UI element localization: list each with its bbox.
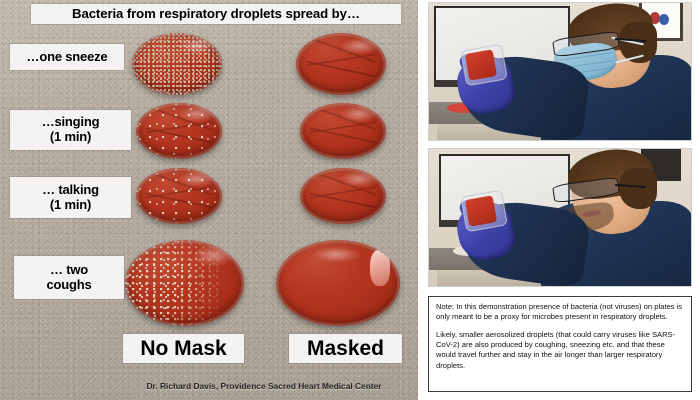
row-label-talking: … talking (1 min) [10, 177, 131, 218]
note-box: Note: In this demonstration presence of … [428, 296, 692, 392]
row-label-coughs-line1: … two [46, 263, 91, 278]
held-agar-plate [460, 43, 507, 85]
plate-photo-panel: Bacteria from respiratory droplets sprea… [0, 0, 418, 400]
agar-plate-two-coughs-masked [276, 240, 400, 326]
photo-scene [429, 3, 691, 140]
agar-plate-sneeze-masked [296, 33, 386, 95]
photo-researcher-masked [428, 2, 692, 141]
hair-side [619, 168, 658, 209]
agar-plate-sneeze-no-mask [132, 33, 222, 95]
plate-rim [276, 240, 400, 326]
agar-plate-talking-no-mask [136, 168, 222, 224]
held-agar-medium [465, 195, 497, 226]
row-label-talking-line1: … talking [42, 183, 99, 198]
plate-rim [136, 168, 222, 224]
agar-plate-singing-no-mask [136, 103, 222, 159]
held-agar-plate [460, 189, 507, 231]
row-label-one-sneeze: …one sneeze [10, 44, 124, 70]
agar-plate-talking-masked [300, 168, 386, 224]
row-label-talking-line2: (1 min) [42, 198, 99, 213]
agar-plate-two-coughs-no-mask [125, 240, 244, 326]
credit-attribution: Dr. Richard Davis, Providence Sacred Hea… [110, 379, 418, 393]
photo-researcher-unmasked [428, 148, 692, 287]
photo-scene [429, 149, 691, 286]
row-label-singing-line2: (1 min) [42, 130, 100, 145]
note-paragraph-2: Likely, smaller aerosolized droplets (th… [436, 330, 684, 371]
plate-rim [132, 33, 222, 95]
plate-rim [300, 103, 386, 159]
note-paragraph-1: Note: In this demonstration presence of … [436, 302, 684, 323]
held-agar-medium [465, 49, 497, 80]
plate-rim [125, 240, 244, 326]
row-label-singing-line1: …singing [42, 115, 100, 130]
plate-rim [136, 103, 222, 159]
column-label-no-mask: No Mask [123, 334, 244, 363]
row-label-singing: …singing (1 min) [10, 110, 131, 150]
page-title: Bacteria from respiratory droplets sprea… [31, 4, 401, 24]
side-panel: Note: In this demonstration presence of … [418, 0, 700, 400]
plate-rim [300, 168, 386, 224]
screenshot-root: Bacteria from respiratory droplets sprea… [0, 0, 700, 400]
plate-rim [296, 33, 386, 95]
column-label-masked: Masked [289, 334, 402, 363]
row-label-coughs-line2: coughs [46, 278, 91, 293]
row-label-two-coughs: … two coughs [14, 256, 124, 299]
agar-plate-singing-masked [300, 103, 386, 159]
